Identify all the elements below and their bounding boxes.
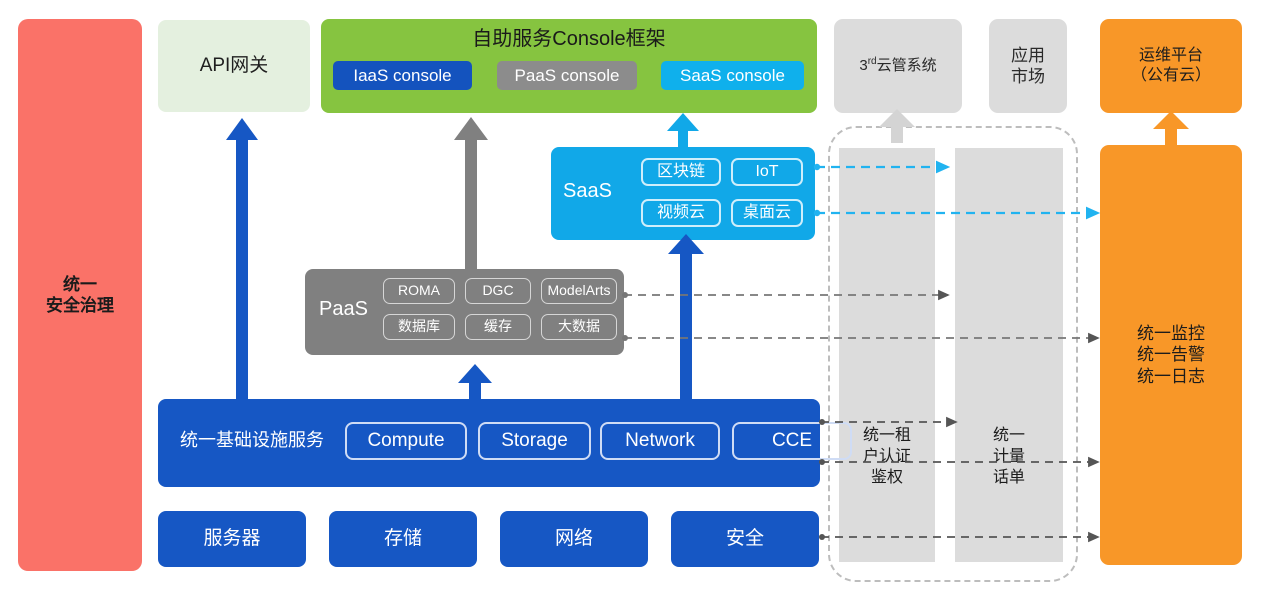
iaas-console-chip: IaaS console <box>333 61 472 90</box>
hardware-box-server: 服务器 <box>158 511 306 567</box>
unified-log-line: 统一日志 <box>1137 366 1205 387</box>
arrow-iaas-to-api-gateway <box>226 118 258 399</box>
third-party-prefix: 3 <box>859 57 867 74</box>
console-framework-box: 自助服务Console框架 IaaS console PaaS console … <box>321 19 817 113</box>
ops-platform-public-cloud-box: 运维平台 （公有云） <box>1100 19 1242 113</box>
paas-layer-label: PaaS <box>319 297 368 322</box>
unified-tenant-auth-column: 统一租 户认证 鉴权 <box>839 148 935 562</box>
saas-chip-video-cloud: 视频云 <box>641 199 721 227</box>
metering-line3: 话单 <box>955 468 1063 489</box>
arrow-iaas-to-paas <box>458 364 492 399</box>
arrow-saas-to-saas-console <box>667 113 699 147</box>
unified-alarm-line: 统一告警 <box>1137 344 1205 365</box>
iaas-chip-storage: Storage <box>478 422 591 460</box>
iaas-chip-compute: Compute <box>345 422 467 460</box>
tenant-auth-line1: 统一租 <box>839 426 935 447</box>
arrow-ops-side-to-ops-top <box>1153 111 1189 145</box>
tenant-auth-line3: 鉴权 <box>839 468 935 489</box>
paas-chip-modelarts: ModelArts <box>541 278 617 304</box>
ops-platform-line2: （公有云） <box>1131 66 1211 86</box>
security-line1: 统一 <box>46 274 114 295</box>
tenant-auth-line2: 户认证 <box>839 447 935 468</box>
unified-metering-column: 统一 计量 话单 <box>955 148 1063 562</box>
security-line2: 安全治理 <box>46 295 114 316</box>
paas-console-chip: PaaS console <box>497 61 637 90</box>
unified-monitor-line: 统一监控 <box>1137 323 1205 344</box>
saas-chip-desktop-cloud: 桌面云 <box>731 199 803 227</box>
saas-chip-iot: IoT <box>731 158 803 186</box>
api-gateway-box: API网关 <box>158 20 310 112</box>
saas-layer-label: SaaS <box>563 179 612 204</box>
metering-line2: 计量 <box>955 447 1063 468</box>
third-party-label: 云管系统 <box>877 57 937 74</box>
app-market-line1: 应用 <box>1011 45 1045 66</box>
unified-infrastructure-box: 统一基础设施服务 Compute Storage Network CCE <box>158 399 820 487</box>
saas-chip-blockchain: 区块链 <box>641 158 721 186</box>
api-gateway-label: API网关 <box>200 54 269 78</box>
architecture-diagram: 统一 安全治理 API网关 自助服务Console框架 IaaS console… <box>0 0 1265 605</box>
saas-console-chip: SaaS console <box>661 61 804 90</box>
app-market-line2: 市场 <box>1011 66 1045 87</box>
third-party-sup: rd <box>868 56 877 67</box>
paas-chip-database: 数据库 <box>383 314 455 340</box>
hardware-box-security: 安全 <box>671 511 819 567</box>
paas-chip-dgc: DGC <box>465 278 531 304</box>
paas-chip-cache: 缓存 <box>465 314 531 340</box>
arrow-iaas-to-saas <box>668 234 704 399</box>
unified-monitoring-panel: 统一监控 统一告警 统一日志 <box>1100 145 1242 565</box>
app-market-box: 应用 市场 <box>989 19 1067 113</box>
ops-platform-line1: 运维平台 <box>1131 46 1211 66</box>
paas-chip-roma: ROMA <box>383 278 455 304</box>
arrow-paas-to-console <box>454 117 488 269</box>
saas-layer-box: SaaS 区块链 IoT 视频云 桌面云 <box>551 147 815 240</box>
paas-layer-box: PaaS ROMA DGC ModelArts 数据库 缓存 大数据 <box>305 269 624 355</box>
hardware-box-storage: 存储 <box>329 511 477 567</box>
unified-infrastructure-label: 统一基础设施服务 <box>180 429 324 452</box>
security-governance-panel: 统一 安全治理 <box>18 19 142 571</box>
console-framework-title: 自助服务Console框架 <box>321 27 817 52</box>
metering-line1: 统一 <box>955 426 1063 447</box>
iaas-chip-network: Network <box>600 422 720 460</box>
third-party-cloud-mgmt-box: 3rd云管系统 <box>834 19 962 113</box>
iaas-chip-cce: CCE <box>732 422 852 460</box>
paas-chip-bigdata: 大数据 <box>541 314 617 340</box>
hardware-box-network: 网络 <box>500 511 648 567</box>
